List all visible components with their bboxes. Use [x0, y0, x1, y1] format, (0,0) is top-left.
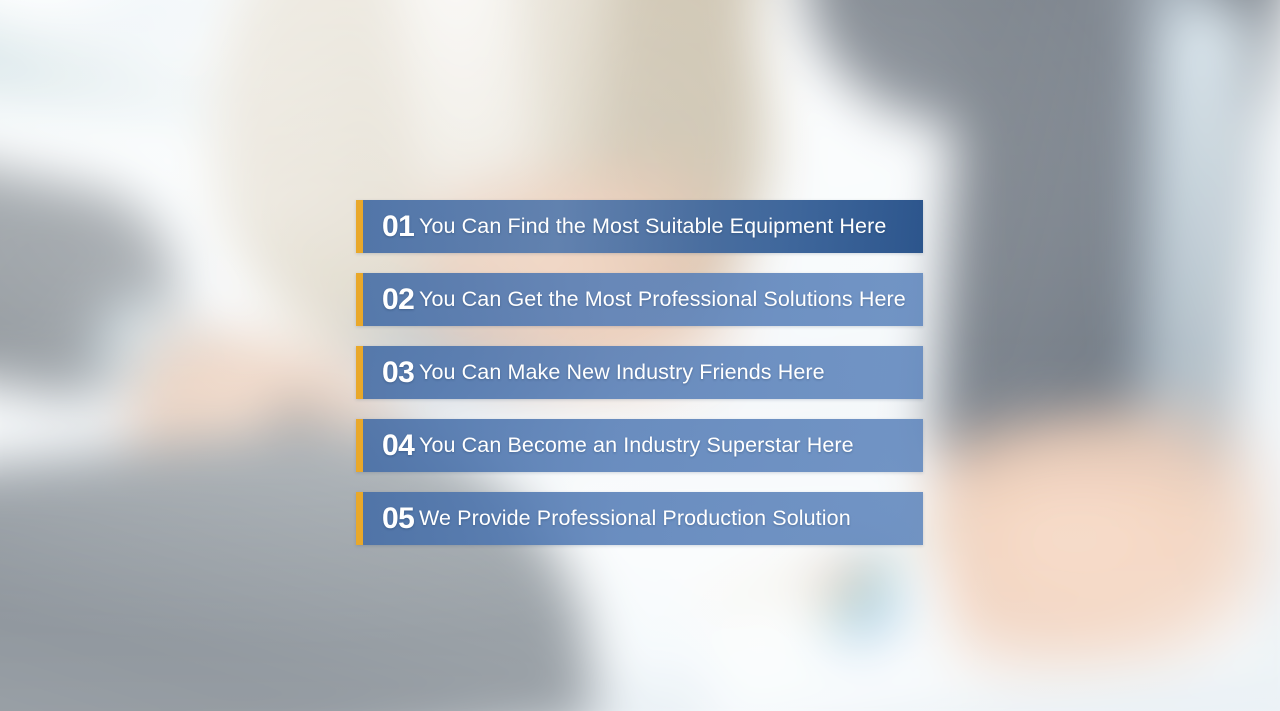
accent-bar-icon [356, 492, 363, 545]
list-item-number: 05 [363, 504, 419, 534]
list-item[interactable]: 04 You Can Become an Industry Superstar … [356, 419, 923, 472]
accent-bar-icon [356, 200, 363, 253]
list-item-body: 01 You Can Find the Most Suitable Equipm… [363, 200, 923, 253]
list-item-label: You Can Get the Most Professional Soluti… [419, 289, 906, 311]
list-item-number: 01 [363, 212, 419, 242]
list-item-number: 04 [363, 431, 419, 461]
accent-bar-icon [356, 419, 363, 472]
list-item[interactable]: 03 You Can Make New Industry Friends Her… [356, 346, 923, 399]
photo-right-hand-2 [1000, 480, 1280, 680]
list-item-label: You Can Find the Most Suitable Equipment… [419, 216, 886, 238]
list-item-label: We Provide Professional Production Solut… [419, 508, 851, 530]
list-item-body: 04 You Can Become an Industry Superstar … [363, 419, 923, 472]
list-item[interactable]: 01 You Can Find the Most Suitable Equipm… [356, 200, 923, 253]
list-item-label: You Can Make New Industry Friends Here [419, 362, 825, 384]
list-item-label: You Can Become an Industry Superstar Her… [419, 435, 854, 457]
slide-canvas: 01 You Can Find the Most Suitable Equipm… [0, 0, 1280, 711]
list-item-body: 05 We Provide Professional Production So… [363, 492, 923, 545]
list-item-number: 02 [363, 285, 419, 315]
list-item-body: 03 You Can Make New Industry Friends Her… [363, 346, 923, 399]
list-item-number: 03 [363, 358, 419, 388]
accent-bar-icon [356, 346, 363, 399]
numbered-benefits-list: 01 You Can Find the Most Suitable Equipm… [356, 200, 923, 545]
list-item[interactable]: 02 You Can Get the Most Professional Sol… [356, 273, 923, 326]
list-item[interactable]: 05 We Provide Professional Production So… [356, 492, 923, 545]
list-item-body: 02 You Can Get the Most Professional Sol… [363, 273, 923, 326]
accent-bar-icon [356, 273, 363, 326]
